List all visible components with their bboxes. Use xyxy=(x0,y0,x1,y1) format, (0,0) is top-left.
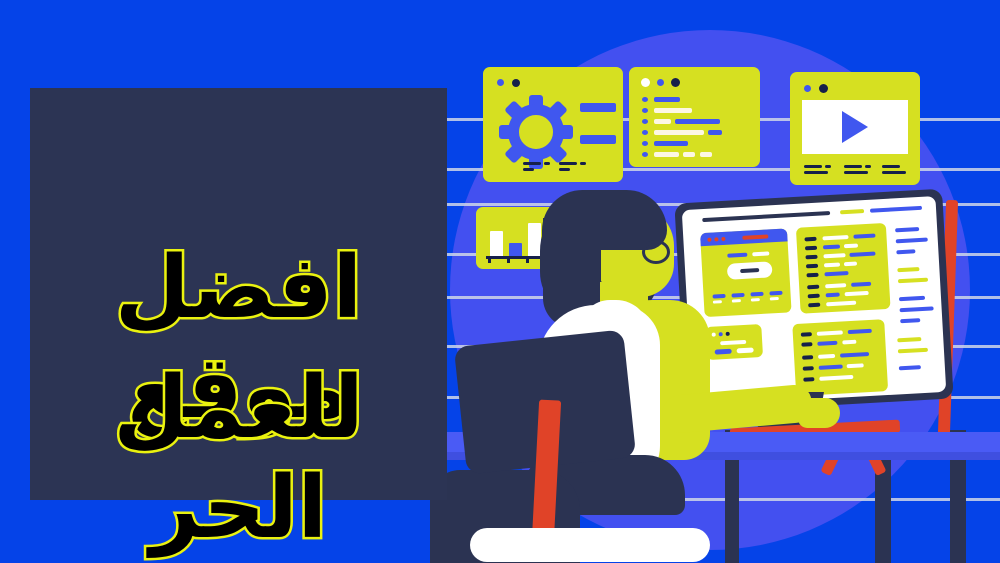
gear-icon xyxy=(499,95,573,169)
headline-line-2: للعمل الحر xyxy=(30,358,447,558)
play-icon xyxy=(842,111,868,143)
chair-base xyxy=(470,528,710,562)
monitor-frame xyxy=(674,189,953,414)
poster-canvas: افضل موقع للعمل الحر xyxy=(0,0,1000,563)
video-card xyxy=(790,72,920,185)
chart-bar xyxy=(490,231,503,257)
card-bar xyxy=(580,103,616,112)
illustration xyxy=(430,0,1000,563)
monitor-screen xyxy=(682,196,947,406)
card-dot-blue xyxy=(497,79,504,86)
glasses-icon xyxy=(642,240,670,264)
code-panel-main xyxy=(796,223,891,314)
person-hand xyxy=(798,398,840,428)
settings-card xyxy=(483,67,623,182)
card-bar xyxy=(580,135,616,144)
chart-bar xyxy=(509,243,522,257)
code-card xyxy=(629,67,760,167)
widget-card xyxy=(705,324,763,360)
browser-panel xyxy=(700,228,792,317)
card-dot-dark xyxy=(512,79,520,87)
code-panel-lower xyxy=(792,319,888,396)
glasses-temple xyxy=(626,243,644,246)
headline-panel: افضل موقع للعمل الحر xyxy=(30,88,447,500)
